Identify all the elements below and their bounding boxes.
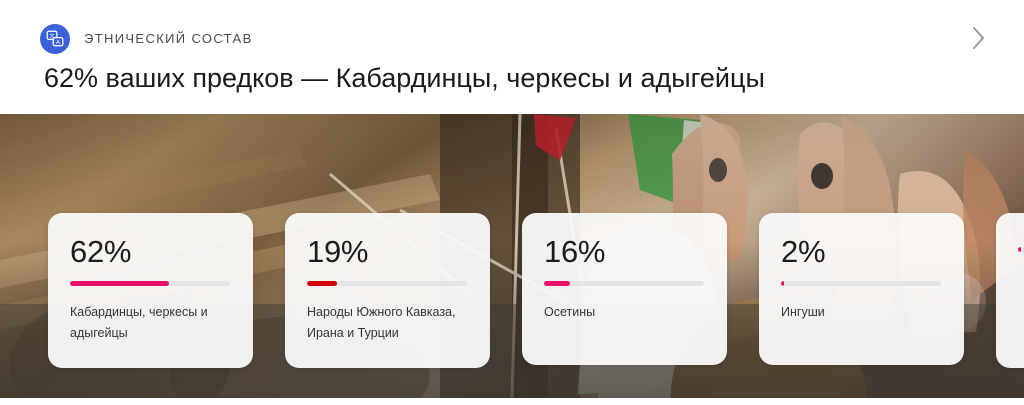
composition-card[interactable]: 16% Осетины [522,213,727,365]
progress-track [307,281,467,286]
composition-card[interactable]: 62% Кабардинцы, черкесы и адыгейцы [48,213,253,368]
progress-fill [544,281,570,286]
composition-card-list: 62% Кабардинцы, черкесы и адыгейцы 19% Н… [48,213,1024,368]
translate-icon: 文 A [40,24,70,54]
card-label: Кабардинцы, черкесы и адыгейцы [70,302,220,344]
progress-fill [70,281,169,286]
composition-card[interactable]: 19% Народы Южного Кавказа, Ирана и Турци… [285,213,490,368]
progress-track [781,281,941,286]
card-percent: 16% [544,235,705,269]
section-kicker-label: ЭТНИЧЕСКИЙ СОСТАВ [84,31,253,47]
expand-button[interactable] [962,24,994,56]
card-label: Осетины [544,302,694,323]
card-percent: 2% [781,235,942,269]
progress-track [1018,247,1024,252]
card-percent: 19% [307,235,468,269]
progress-track [544,281,704,286]
progress-fill [307,281,337,286]
progress-fill [1018,247,1021,252]
progress-track [70,281,230,286]
bottom-edge [0,398,1024,405]
card-label: Народы Южного Кавказа, Ирана и Турции [307,302,457,344]
card-percent: 62% [70,235,231,269]
ethnic-composition-widget: 文 A ЭТНИЧЕСКИЙ СОСТАВ 62% ваших предков … [0,0,1024,405]
widget-header: 文 A ЭТНИЧЕСКИЙ СОСТАВ 62% ваших предков … [0,0,1024,114]
composition-card[interactable]: 2% Ингуши [759,213,964,365]
card-label: Ингуши [781,302,931,323]
chevron-right-icon [970,25,987,56]
progress-fill [781,281,784,286]
composition-card-partial[interactable] [996,213,1024,368]
page-title: 62% ваших предков — Кабардинцы, черкесы … [44,60,765,96]
svg-text:A: A [56,40,60,46]
kicker-row: 文 A ЭТНИЧЕСКИЙ СОСТАВ [40,24,253,54]
